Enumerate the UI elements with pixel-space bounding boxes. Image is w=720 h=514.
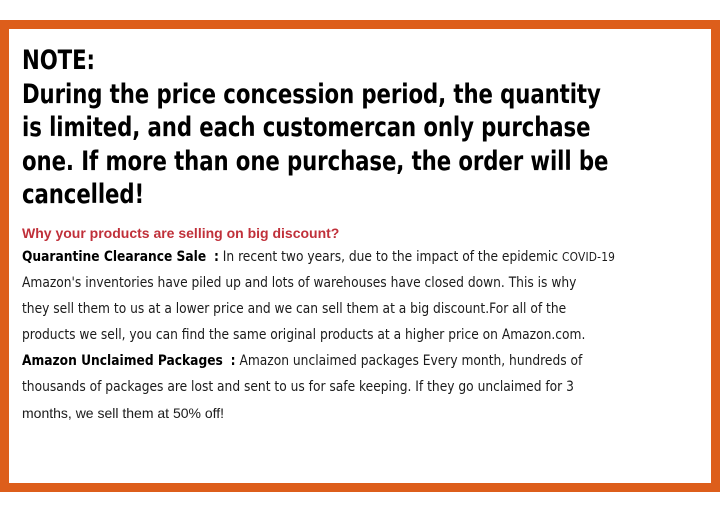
section-2-first-line-rest: Amazon unclaimed packages Every month, h…	[239, 353, 582, 369]
subheading: Why your products are selling on big dis…	[22, 223, 703, 243]
covid-label: COVID-19	[562, 249, 615, 264]
headline-line-3: is limited, and each customercan only pu…	[22, 111, 702, 145]
section-2-line-3: months, we sell them at 50% off!	[22, 400, 703, 426]
note-content: NOTE: During the price concession period…	[9, 29, 711, 483]
section-1-line-3: they sell them to us at a lower price an…	[22, 296, 703, 322]
section-1-first-line-rest: In recent two years, due to the impact o…	[223, 249, 562, 265]
section-1-lead: Quarantine Clearance Sale	[22, 249, 206, 265]
headline-block: NOTE: During the price concession period…	[22, 44, 703, 212]
section-1-first-line: Quarantine Clearance Sale : In recent tw…	[22, 244, 703, 270]
headline-line-1: NOTE:	[22, 44, 702, 78]
body-block: Quarantine Clearance Sale : In recent tw…	[22, 244, 703, 426]
section-2-line-2: thousands of packages are lost and sent …	[22, 374, 703, 400]
section-1-line-4: products we sell, you can find the same …	[22, 322, 703, 348]
section-1-line-2: Amazon's inventories have piled up and l…	[22, 270, 703, 296]
note-banner: NOTE: During the price concession period…	[0, 20, 720, 492]
headline-line-2: During the price concession period, the …	[22, 78, 702, 112]
headline-line-4: one. If more than one purchase, the orde…	[22, 145, 702, 179]
section-2-lead: Amazon Unclaimed Packages	[22, 353, 223, 369]
section-2-first-line: Amazon Unclaimed Packages : Amazon uncla…	[22, 348, 703, 374]
headline-line-5: cancelled!	[22, 178, 702, 212]
